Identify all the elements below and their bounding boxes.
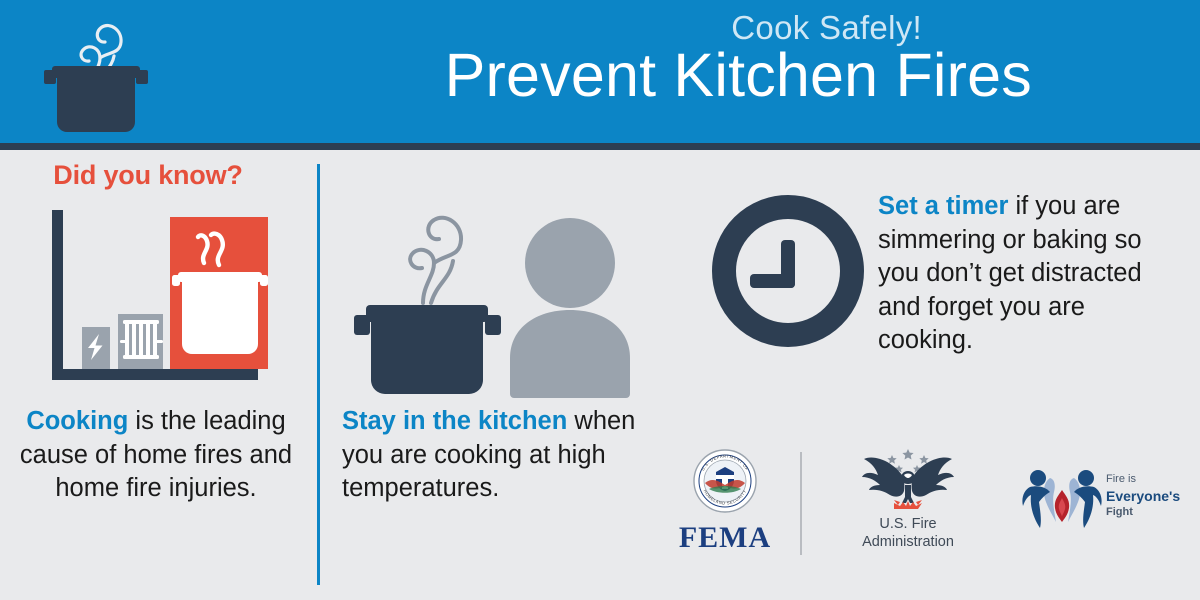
- column-divider: [317, 164, 320, 585]
- usfa-logo: U.S. Fire Administration: [828, 445, 988, 557]
- usfa-line-1: U.S. Fire: [828, 515, 988, 533]
- dhs-seal-icon: U.S. DEPARTMENT OF HOMELAND SECURITY: [660, 447, 790, 519]
- fema-wordmark: FEMA: [660, 521, 790, 555]
- flames-icon: [894, 500, 922, 509]
- clock-icon: [712, 195, 864, 347]
- caption-lead-stay: Stay in the kitchen: [342, 407, 567, 435]
- header-rule: [0, 143, 1200, 150]
- radiator-icon: [120, 320, 163, 359]
- usfa-wordmark: U.S. Fire Administration: [828, 515, 988, 551]
- caption-lead-cooking: Cooking: [26, 407, 128, 435]
- steaming-pot-icon: [26, 8, 166, 143]
- pot-and-person-icon: [330, 175, 650, 405]
- usfa-line-2: Administration: [828, 533, 988, 551]
- caption-lead-timer: Set a timer: [878, 192, 1008, 220]
- header-title-group: Cook Safely! Prevent Kitchen Fires: [200, 10, 1060, 109]
- fire-is-everyones-fight-icon: [1020, 462, 1104, 538]
- usfa-eagle-icon: [828, 445, 988, 515]
- page-title: Prevent Kitchen Fires: [200, 43, 1060, 109]
- stay-in-kitchen-caption: Stay in the kitchen when you are cooking…: [342, 405, 642, 506]
- cooking-pot-icon: [354, 305, 501, 394]
- column-did-you-know: Did you know?: [0, 150, 317, 600]
- set-a-timer-caption: Set a timer if you are simmering or baki…: [878, 190, 1184, 358]
- infographic-poster: Cook Safely! Prevent Kitchen Fires Did y…: [0, 0, 1200, 600]
- did-you-know-title: Did you know?: [0, 160, 296, 191]
- logo-divider: [800, 452, 802, 555]
- steam-icon: [410, 218, 461, 303]
- did-you-know-caption: Cooking is the leading cause of home fir…: [6, 405, 306, 506]
- fema-logo: U.S. DEPARTMENT OF HOMELAND SECURITY FEM…: [660, 447, 790, 555]
- eagle-body: [862, 458, 954, 503]
- header-banner: Cook Safely! Prevent Kitchen Fires: [0, 0, 1200, 143]
- cooking-pot-icon: [172, 272, 268, 354]
- fief-line-1: Fire is: [1106, 472, 1182, 487]
- fief-line-2: Everyone's: [1106, 487, 1182, 505]
- bar-chart-fire-causes: [52, 210, 284, 390]
- fief-wordmark: Fire is Everyone's Fight: [1106, 472, 1182, 520]
- fire-is-everyones-fight-logo: Fire is Everyone's Fight: [1020, 462, 1180, 538]
- person-icon: [510, 218, 630, 398]
- fief-line-3: Fight: [1106, 505, 1182, 520]
